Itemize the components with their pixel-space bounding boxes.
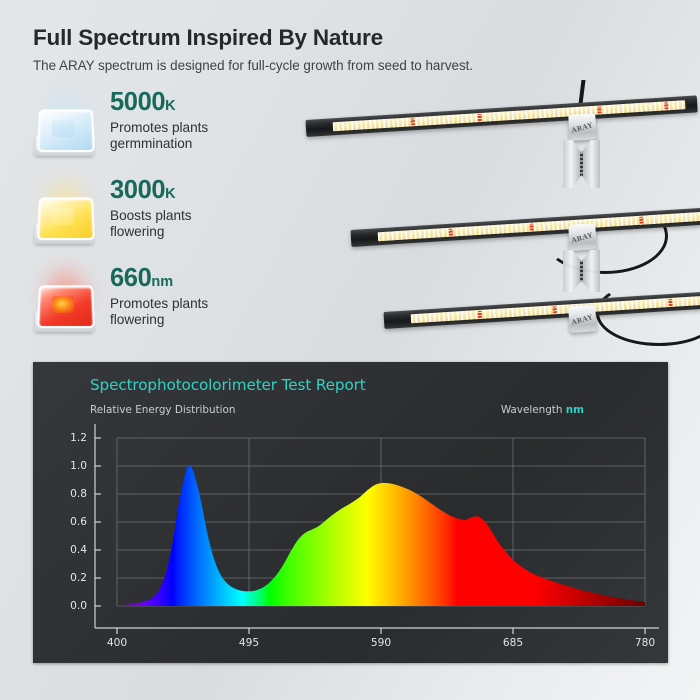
feature-desc-line2: flowering xyxy=(110,312,208,329)
page-header: Full Spectrum Inspired By Nature The ARA… xyxy=(33,26,673,74)
grow-light-product-image: ARAY ARAY ARAY xyxy=(296,80,700,348)
cord-loop xyxy=(542,198,668,274)
page-title: Full Spectrum Inspired By Nature xyxy=(33,26,673,51)
feature-item-3000k: 3000K Boosts plants flowering xyxy=(26,180,276,265)
feature-description: Boosts plants flowering xyxy=(110,208,192,241)
feature-number: 3000K xyxy=(110,178,192,204)
page-subtitle: The ARAY spectrum is designed for full-c… xyxy=(33,58,673,74)
x-axis-tick-label: 590 xyxy=(371,637,391,649)
spectrum-chart-panel: Spectrophotocolorimeter Test Report Rela… xyxy=(33,362,668,663)
x-axis-tick-label: 780 xyxy=(635,637,655,649)
bar-hub-aray-logo: ARAY xyxy=(568,223,597,251)
feature-item-660nm: 660nm Promotes plants flowering xyxy=(26,268,276,353)
feature-list: 5000K Promotes plants germmination 3000K… xyxy=(26,92,276,356)
x-axis-tick-label: 400 xyxy=(107,637,127,649)
x-axis-tick-label: 495 xyxy=(239,637,259,649)
led-bar xyxy=(305,95,697,137)
spectrum-chart-svg xyxy=(33,362,668,663)
led-chip-3000k-warm-white-icon xyxy=(26,180,104,260)
mounting-bracket xyxy=(563,140,600,188)
feature-desc-line1: Promotes plants xyxy=(110,296,208,313)
feature-desc-line2: flowering xyxy=(110,224,192,241)
feature-description: Promotes plants germmination xyxy=(110,120,208,153)
bar-hub-aray-logo: ARAY xyxy=(568,113,597,141)
y-axis-tick-label: 0.6 xyxy=(70,516,87,528)
feature-description: Promotes plants flowering xyxy=(110,296,208,329)
feature-desc-line2: germmination xyxy=(110,136,208,153)
feature-number: 660nm xyxy=(110,266,208,292)
spectrum-curve xyxy=(117,465,645,606)
feature-desc-line1: Boosts plants xyxy=(110,208,192,225)
y-axis-tick-label: 1.0 xyxy=(70,460,87,472)
feature-number: 5000K xyxy=(110,90,208,116)
x-axis-tick-label: 685 xyxy=(503,637,523,649)
bar-hub-aray-logo: ARAY xyxy=(568,305,597,333)
chart-plot-area: 0.00.20.40.60.81.01.2400495590685780 xyxy=(33,362,668,663)
led-chip-5000k-blue-white-icon xyxy=(26,92,104,172)
y-axis-tick-label: 0.2 xyxy=(70,572,87,584)
y-axis-tick-label: 0.0 xyxy=(70,600,87,612)
y-axis-tick-label: 1.2 xyxy=(70,432,87,444)
y-axis-tick-label: 0.4 xyxy=(70,544,87,556)
feature-desc-line1: Promotes plants xyxy=(110,120,208,137)
led-chip-660nm-red-icon xyxy=(26,268,104,348)
feature-item-5000k: 5000K Promotes plants germmination xyxy=(26,92,276,177)
y-axis-tick-label: 0.8 xyxy=(70,488,87,500)
